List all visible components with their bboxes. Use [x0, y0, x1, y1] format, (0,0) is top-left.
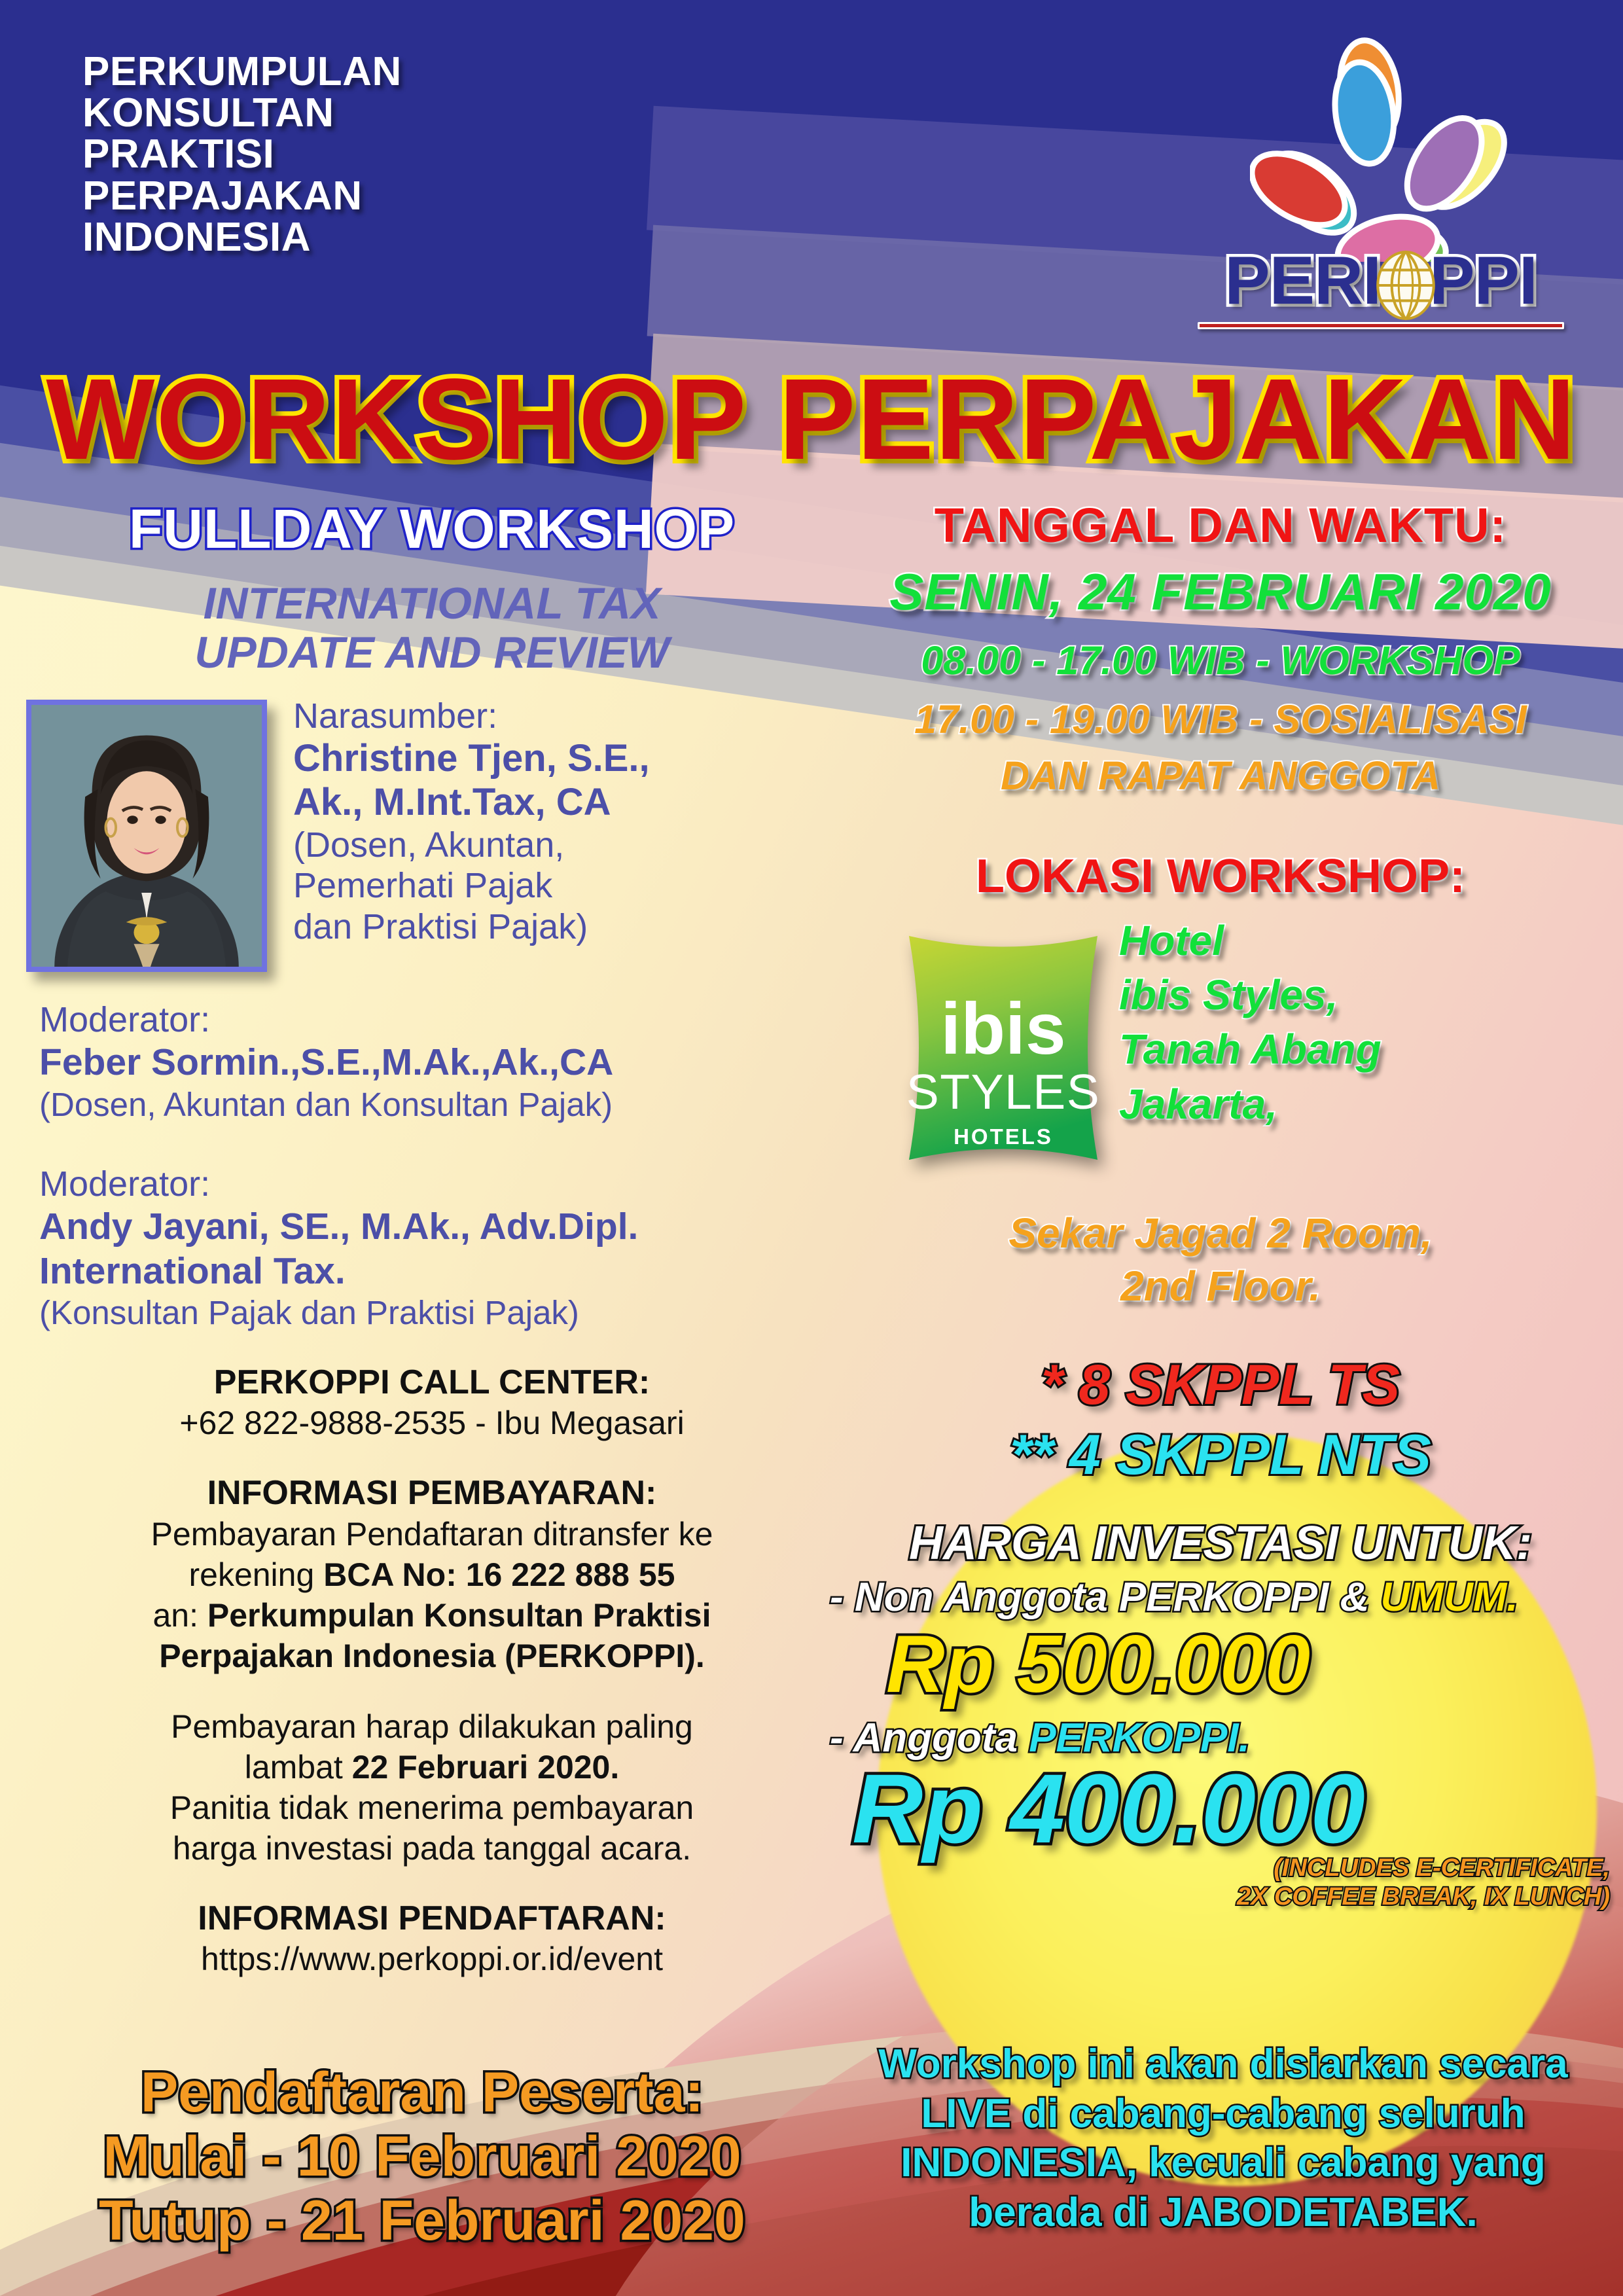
moderator-1-block: Moderator: Feber Sormin.,S.E.,M.Ak.,Ak.,… — [39, 999, 825, 1124]
wordmark-underline — [1198, 322, 1564, 329]
subtitle-line-2: UPDATE AND REVIEW — [39, 628, 825, 677]
price-tier-1-amount: Rp 500.000 — [818, 1618, 1623, 1711]
payment-line-6: lambat 22 Februari 2020. — [39, 1747, 825, 1787]
live-note-line-4: berada di JABODETABEK. — [823, 2188, 1623, 2238]
payment-deadline: 22 Februari 2020. — [352, 1749, 620, 1785]
payment-line-2: rekening BCA No: 16 222 888 55 — [39, 1554, 825, 1595]
venue-room-line-2: 2nd Floor. — [818, 1260, 1623, 1313]
event-time-slot-1: 08.00 - 17.00 WIB - WORKSHOP — [818, 637, 1623, 683]
organization-name: PERKUMPULAN KONSULTAN PRAKTISI PERPAJAKA… — [82, 51, 402, 258]
payment-line-3-pre: an: — [152, 1597, 207, 1634]
speaker-desc-line-1: (Dosen, Akuntan, — [293, 825, 823, 866]
credit-skppl-ts: * 8 SKPPL TS — [818, 1353, 1623, 1418]
registration-heading: INFORMASI PENDAFTARAN: — [39, 1899, 825, 1939]
svg-text:ibis: ibis — [940, 988, 1065, 1069]
svg-text:HOTELS: HOTELS — [954, 1124, 1053, 1149]
payment-account-name-1: Perkumpulan Konsultan Praktisi — [207, 1597, 711, 1634]
moderator-1-name: Feber Sormin.,S.E.,M.Ak.,Ak.,CA — [39, 1041, 825, 1085]
payment-account-name-2: Perpajakan Indonesia (PERKOPPI). — [159, 1638, 705, 1674]
moderator-1-role: Moderator: — [39, 999, 825, 1041]
venue-line-2: ibis Styles, — [1119, 968, 1623, 1022]
moderator-2-name-line-1: Andy Jayani, SE., M.Ak., Adv.Dipl. — [39, 1205, 825, 1249]
page-title: WORKSHOP PERPAJAKAN — [0, 353, 1623, 486]
location-heading: LOKASI WORKSHOP: — [818, 850, 1623, 903]
moderator-2-name-line-2: International Tax. — [39, 1249, 825, 1293]
poster-root: PERKUMPULAN KONSULTAN PRAKTISI PERPAJAKA… — [0, 0, 1623, 2296]
venue-room: Sekar Jagad 2 Room, 2nd Floor. — [818, 1207, 1623, 1312]
credit-skppl-nts: ** 4 SKPPL NTS — [818, 1423, 1623, 1488]
fullday-label: FULLDAY WORKSHOP — [39, 497, 825, 561]
live-note-line-1: Workshop ini akan disiarkan secara — [823, 2039, 1623, 2089]
perkoppi-logo: PERK PPI — [1152, 26, 1610, 340]
moderator-2-desc: (Konsultan Pajak dan Praktisi Pajak) — [39, 1293, 825, 1333]
event-time-slot-3: DAN RAPAT ANGGOTA — [818, 753, 1623, 798]
left-column: FULLDAY WORKSHOP INTERNATIONAL TAX UPDAT… — [39, 497, 825, 1979]
price-tier-2-amount: Rp 400.000 — [818, 1752, 1623, 1865]
payment-line-3: an: Perkumpulan Konsultan Praktisi — [39, 1595, 825, 1636]
event-time-slot-2: 17.00 - 19.00 WIB - SOSIALISASI — [818, 696, 1623, 742]
price-tier-1-label: - Non Anggota PERKOPPI & UMUM. — [818, 1574, 1623, 1621]
live-note-line-3: INDONESIA, kecuali cabang yang — [823, 2138, 1623, 2188]
venue-line-3: Tanah Abang — [1119, 1022, 1623, 1077]
pendaftaran-heading: Pendaftaran Peserta: — [26, 2060, 818, 2125]
datetime-heading: TANGGAL DAN WAKTU: — [818, 497, 1623, 553]
payment-line-2-pre: rekening — [188, 1556, 323, 1593]
pendaftaran-end: Tutup - 21 Februari 2020 — [26, 2189, 818, 2253]
speaker-details: Narasumber: Christine Tjen, S.E., Ak., M… — [293, 696, 823, 948]
payment-account-number: BCA No: 16 222 888 55 — [323, 1556, 675, 1593]
venue-address: Hotel ibis Styles, Tanah Abang Jakarta, — [1119, 914, 1623, 1132]
event-date: SENIN, 24 FEBRUARI 2020 — [818, 562, 1623, 622]
payment-line-7: Panitia tidak menerima pembayaran — [39, 1787, 825, 1828]
right-column: TANGGAL DAN WAKTU: SENIN, 24 FEBRUARI 20… — [818, 497, 1623, 1911]
payment-line-1: Pembayaran Pendaftaran ditransfer ke — [39, 1514, 825, 1554]
registration-url[interactable]: https://www.perkoppi.or.id/event — [39, 1939, 825, 1979]
speaker-desc-line-2: Pemerhati Pajak — [293, 865, 823, 906]
speaker-name-line-1: Christine Tjen, S.E., — [293, 736, 823, 780]
location-block: ibis STYLES HOTELS Hotel ibis Styles, Ta… — [818, 914, 1623, 1215]
pendaftaran-peserta-block: Pendaftaran Peserta: Mulai - 10 Februari… — [26, 2060, 818, 2253]
live-broadcast-note: Workshop ini akan disiarkan secara LIVE … — [823, 2039, 1623, 2238]
org-line-5: INDONESIA — [82, 217, 402, 258]
contact-and-payment: PERKOPPI CALL CENTER: +62 822-9888-2535 … — [39, 1363, 825, 1979]
speaker-desc-line-3: dan Praktisi Pajak) — [293, 906, 823, 948]
pricing-heading: HARGA INVESTASI UNTUK: — [818, 1516, 1623, 1570]
payment-line-8: harga investasi pada tanggal acara. — [39, 1828, 825, 1869]
call-center-heading: PERKOPPI CALL CENTER: — [39, 1363, 825, 1403]
venue-room-line-1: Sekar Jagad 2 Room, — [818, 1207, 1623, 1260]
svg-text:STYLES: STYLES — [906, 1064, 1101, 1119]
moderator-2-block: Moderator: Andy Jayani, SE., M.Ak., Adv.… — [39, 1164, 825, 1333]
ibis-styles-hotels-logo: ibis STYLES HOTELS — [895, 920, 1111, 1175]
org-line-1: PERKUMPULAN — [82, 51, 402, 92]
pendaftaran-start: Mulai - 10 Februari 2020 — [26, 2125, 818, 2189]
speaker-role: Narasumber: — [293, 696, 823, 737]
speaker-photo — [26, 700, 267, 972]
venue-line-1: Hotel — [1119, 914, 1623, 968]
call-center-value: +62 822-9888-2535 - Ibu Megasari — [39, 1403, 825, 1443]
includes-line-2: 2X COFFEE BREAK, IX LUNCH) — [818, 1882, 1610, 1911]
subtitle-line-1: INTERNATIONAL TAX — [39, 579, 825, 628]
payment-heading: INFORMASI PEMBAYARAN: — [39, 1473, 825, 1513]
org-line-3: PRAKTISI — [82, 134, 402, 175]
pinwheel-flower-icon — [1250, 33, 1512, 262]
tier-1-label-pre: - Non Anggota PERKOPPI & — [830, 1575, 1381, 1620]
moderator-1-desc: (Dosen, Akuntan dan Konsultan Pajak) — [39, 1085, 825, 1124]
tier-1-label-highlight: UMUM. — [1381, 1575, 1518, 1620]
speaker-block: Narasumber: Christine Tjen, S.E., Ak., M… — [39, 700, 825, 988]
moderator-2-role: Moderator: — [39, 1164, 825, 1206]
payment-line-4: Perpajakan Indonesia (PERKOPPI). — [39, 1636, 825, 1676]
workshop-subtitle: INTERNATIONAL TAX UPDATE AND REVIEW — [39, 579, 825, 677]
org-line-2: KONSULTAN — [82, 92, 402, 134]
venue-line-4: Jakarta, — [1119, 1077, 1623, 1132]
payment-line-6-pre: lambat — [245, 1749, 352, 1785]
payment-line-5: Pembayaran harap dilakukan paling — [39, 1706, 825, 1747]
org-line-4: PERPAJAKAN — [82, 175, 402, 217]
speaker-name-line-2: Ak., M.Int.Tax, CA — [293, 780, 823, 824]
globe-icon — [1372, 249, 1440, 322]
live-note-line-2: LIVE di cabang-cabang seluruh — [823, 2089, 1623, 2139]
